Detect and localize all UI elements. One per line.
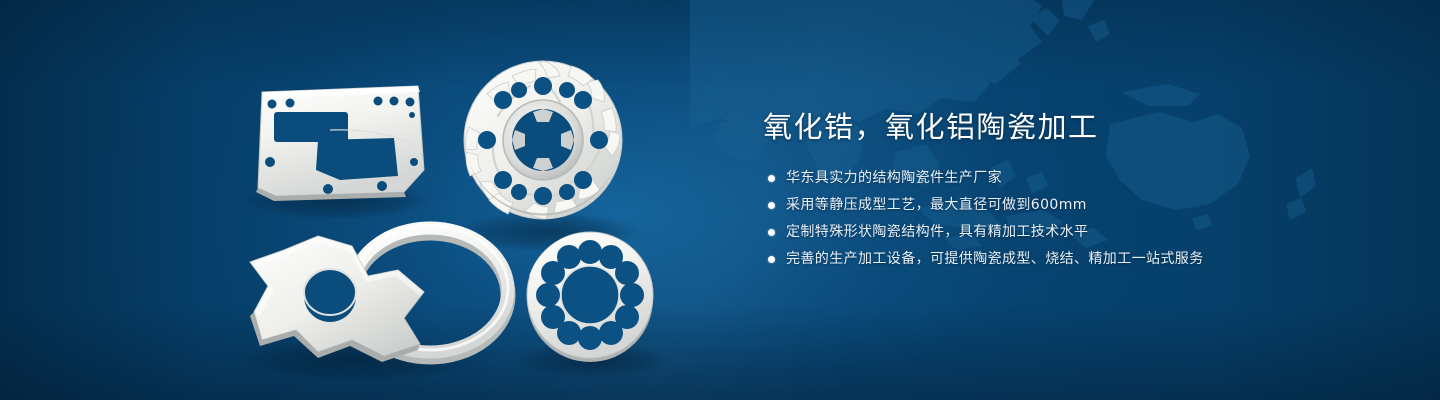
banner-text-block: 氧化锆，氧化铝陶瓷加工 华东具实力的结构陶瓷件生产厂家 采用等静压成型工艺，最大… xyxy=(763,108,1383,269)
feature-bullet-item: 华东具实力的结构陶瓷件生产厂家 xyxy=(763,168,1383,188)
feature-bullet-text: 定制特殊形状陶瓷结构件，具有精加工技术水平 xyxy=(786,222,1088,242)
feature-bullet-text: 完善的生产加工设备，可提供陶瓷成型、烧结、精加工一站式服务 xyxy=(786,249,1204,269)
feature-bullet-list: 华东具实力的结构陶瓷件生产厂家 采用等静压成型工艺，最大直径可做到600mm 定… xyxy=(763,168,1383,269)
feature-bullet-text: 华东具实力的结构陶瓷件生产厂家 xyxy=(786,168,1002,188)
bullet-dot-icon xyxy=(768,229,775,236)
feature-bullet-item: 完善的生产加工设备，可提供陶瓷成型、烧结、精加工一站式服务 xyxy=(763,249,1383,269)
bullet-dot-icon xyxy=(768,175,775,182)
feature-bullet-item: 定制特殊形状陶瓷结构件，具有精加工技术水平 xyxy=(763,222,1383,242)
hero-banner: 氧化锆，氧化铝陶瓷加工 华东具实力的结构陶瓷件生产厂家 采用等静压成型工艺，最大… xyxy=(0,0,1440,400)
bullet-dot-icon xyxy=(768,202,775,209)
bullet-dot-icon xyxy=(768,256,775,263)
feature-bullet-text: 采用等静压成型工艺，最大直径可做到600mm xyxy=(786,195,1087,215)
feature-bullet-item: 采用等静压成型工艺，最大直径可做到600mm xyxy=(763,195,1383,215)
banner-headline: 氧化锆，氧化铝陶瓷加工 xyxy=(763,108,1383,146)
